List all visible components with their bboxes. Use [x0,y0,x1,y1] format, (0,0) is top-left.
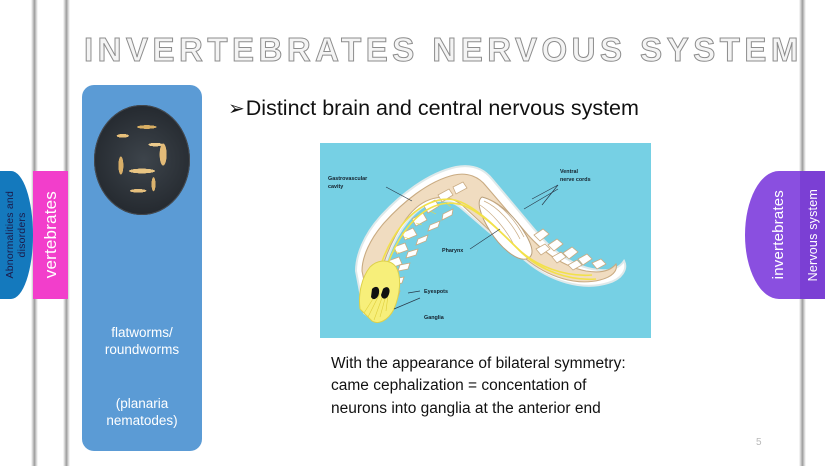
photo-circle-mask [94,105,190,215]
bullet-point-text: Distinct brain and central nervous syste… [246,98,639,120]
side-tab-label: invertebrates [771,190,788,279]
page-number: 5 [756,437,762,448]
page-title: INVERTEBRATES NERVOUS SYSTEM [84,33,774,66]
side-tab-abnormalities-and-disorders[interactable]: Abnormalities and disorders [0,171,33,299]
diagram-label-ganglia: Ganglia [424,315,445,321]
side-tab-label: vertebrates [41,191,60,278]
diagram-label-pharynx: Pharynx [442,248,463,254]
side-tab-label: Nervous system [806,189,820,281]
arrow-bullet-icon: ➢ [228,99,245,119]
roundworms-photo [94,105,190,215]
side-tab-vertebrates[interactable]: vertebrates [33,171,68,299]
side-tab-nervous-system[interactable]: Nervous system [800,171,825,299]
diagram-label-eyespots: Eyespots [424,289,448,295]
card-caption-secondary: (planaria nematodes) [82,396,202,430]
body-paragraph: With the appearance of bilateral symmetr… [331,353,646,420]
side-tab-invertebrates[interactable]: invertebrates [745,171,800,299]
worm-info-card: flatworms/ roundworms (planaria nematode… [82,85,202,451]
card-caption-primary: flatworms/ roundworms [82,325,202,359]
slide-canvas: Abnormalities and disorders vertebrates … [0,0,828,466]
side-tab-label: Abnormalities and disorders [5,191,29,278]
planaria-anatomy-diagram: Gastrovascularcavity Ventralnerve cords … [320,143,651,338]
diagram-svg: Gastrovascularcavity Ventralnerve cords … [320,143,651,338]
bullet-point-row: ➢ Distinct brain and central nervous sys… [228,98,639,120]
